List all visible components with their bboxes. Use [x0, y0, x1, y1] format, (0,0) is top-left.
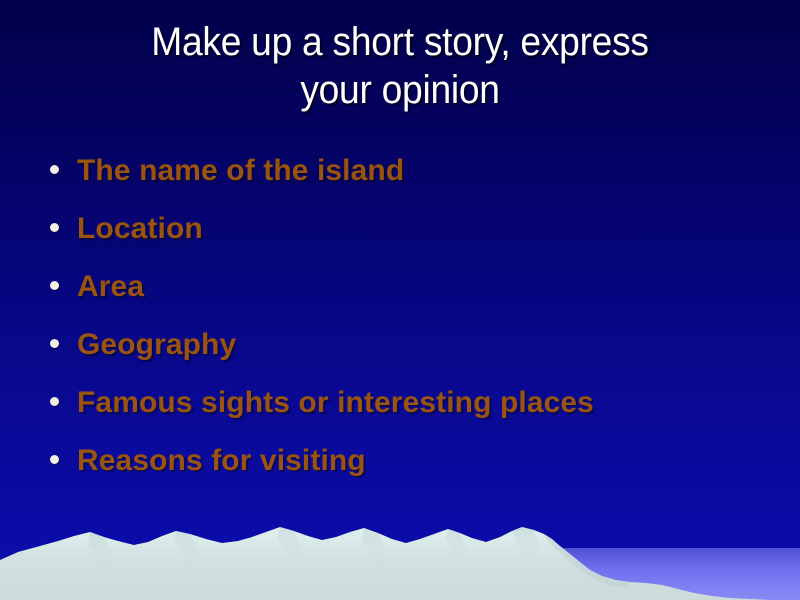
- bullet-dot-icon: [50, 165, 59, 174]
- list-item[interactable]: The name of the island: [36, 148, 736, 194]
- list-item[interactable]: Famous sights or interesting places: [36, 380, 736, 426]
- sea-band: [520, 548, 800, 600]
- slide-title: Make up a short story, express your opin…: [40, 18, 760, 114]
- snow-mountain-range: [0, 527, 800, 600]
- slide-title-text: Make up a short story, express your opin…: [65, 18, 735, 114]
- list-item-label: The name of the island: [77, 148, 637, 194]
- list-item[interactable]: Area: [36, 264, 736, 310]
- bullet-dot-icon: [50, 281, 59, 290]
- list-item[interactable]: Geography: [36, 322, 736, 368]
- list-item[interactable]: Location: [36, 206, 736, 252]
- list-item[interactable]: Reasons for visiting: [36, 438, 736, 484]
- bullet-dot-icon: [50, 223, 59, 232]
- bullet-dot-icon: [50, 455, 59, 464]
- bullet-dot-icon: [50, 339, 59, 348]
- bullet-list: The name of the island Location Area Geo…: [36, 148, 736, 496]
- presentation-slide: Make up a short story, express your opin…: [0, 0, 800, 600]
- list-item-label: Location: [77, 206, 637, 252]
- list-item-label: Area: [77, 264, 637, 310]
- list-item-label: Geography: [77, 322, 637, 368]
- list-item-label: Famous sights or interesting places: [77, 380, 637, 426]
- list-item-label: Reasons for visiting: [77, 438, 637, 484]
- bullet-dot-icon: [50, 397, 59, 406]
